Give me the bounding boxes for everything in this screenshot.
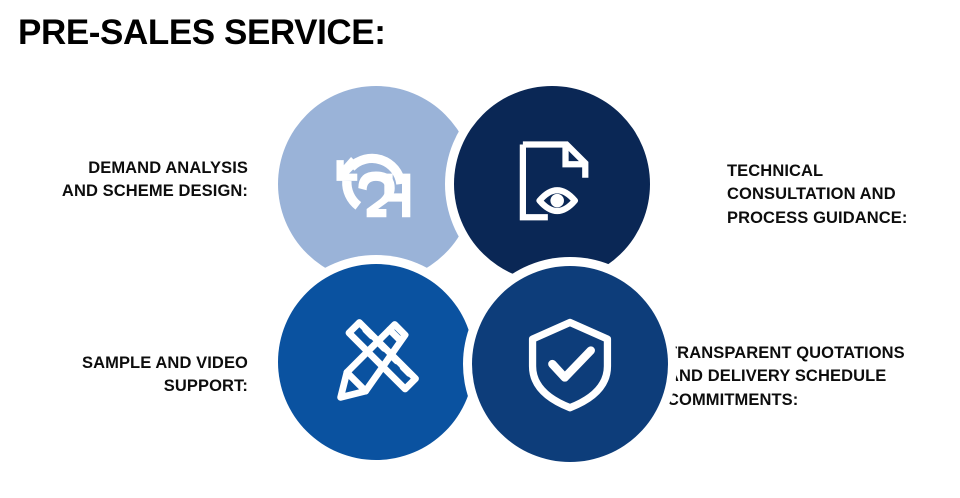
- clock-24-rotate-icon: [324, 132, 428, 236]
- label-line: SUPPORT:: [0, 375, 248, 398]
- document-eye-icon: [500, 132, 604, 236]
- label-line: PROCESS GUIDANCE:: [727, 207, 957, 230]
- shield-check-icon: [518, 312, 622, 416]
- page-title: PRE-SALES SERVICE:: [18, 12, 386, 54]
- circle-technical-consultation[interactable]: [454, 86, 650, 282]
- label-sample-video-support: SAMPLE AND VIDEO SUPPORT:: [0, 352, 248, 399]
- label-transparent-quotations: TRANSPARENT QUOTATIONS AND DELIVERY SCHE…: [667, 342, 959, 412]
- label-line: AND DELIVERY SCHEDULE: [667, 365, 959, 388]
- label-technical-consultation: TECHNICAL CONSULTATION AND PROCESS GUIDA…: [727, 160, 957, 230]
- circle-cluster: [272, 78, 684, 488]
- label-line: AND SCHEME DESIGN:: [0, 180, 248, 203]
- infographic-canvas: PRE-SALES SERVICE:: [0, 0, 960, 498]
- label-line: TRANSPARENT QUOTATIONS: [667, 342, 959, 365]
- circle-demand-analysis[interactable]: [278, 86, 474, 282]
- label-line: TECHNICAL: [727, 160, 957, 183]
- label-line: CONSULTATION AND: [727, 183, 957, 206]
- circle-transparent-quotations[interactable]: [472, 266, 668, 462]
- pencil-ruler-icon: [324, 310, 428, 414]
- circle-sample-video-support[interactable]: [278, 264, 474, 460]
- label-line: COMMITMENTS:: [667, 389, 959, 412]
- label-demand-analysis: DEMAND ANALYSIS AND SCHEME DESIGN:: [0, 157, 248, 204]
- label-line: DEMAND ANALYSIS: [0, 157, 248, 180]
- label-line: SAMPLE AND VIDEO: [0, 352, 248, 375]
